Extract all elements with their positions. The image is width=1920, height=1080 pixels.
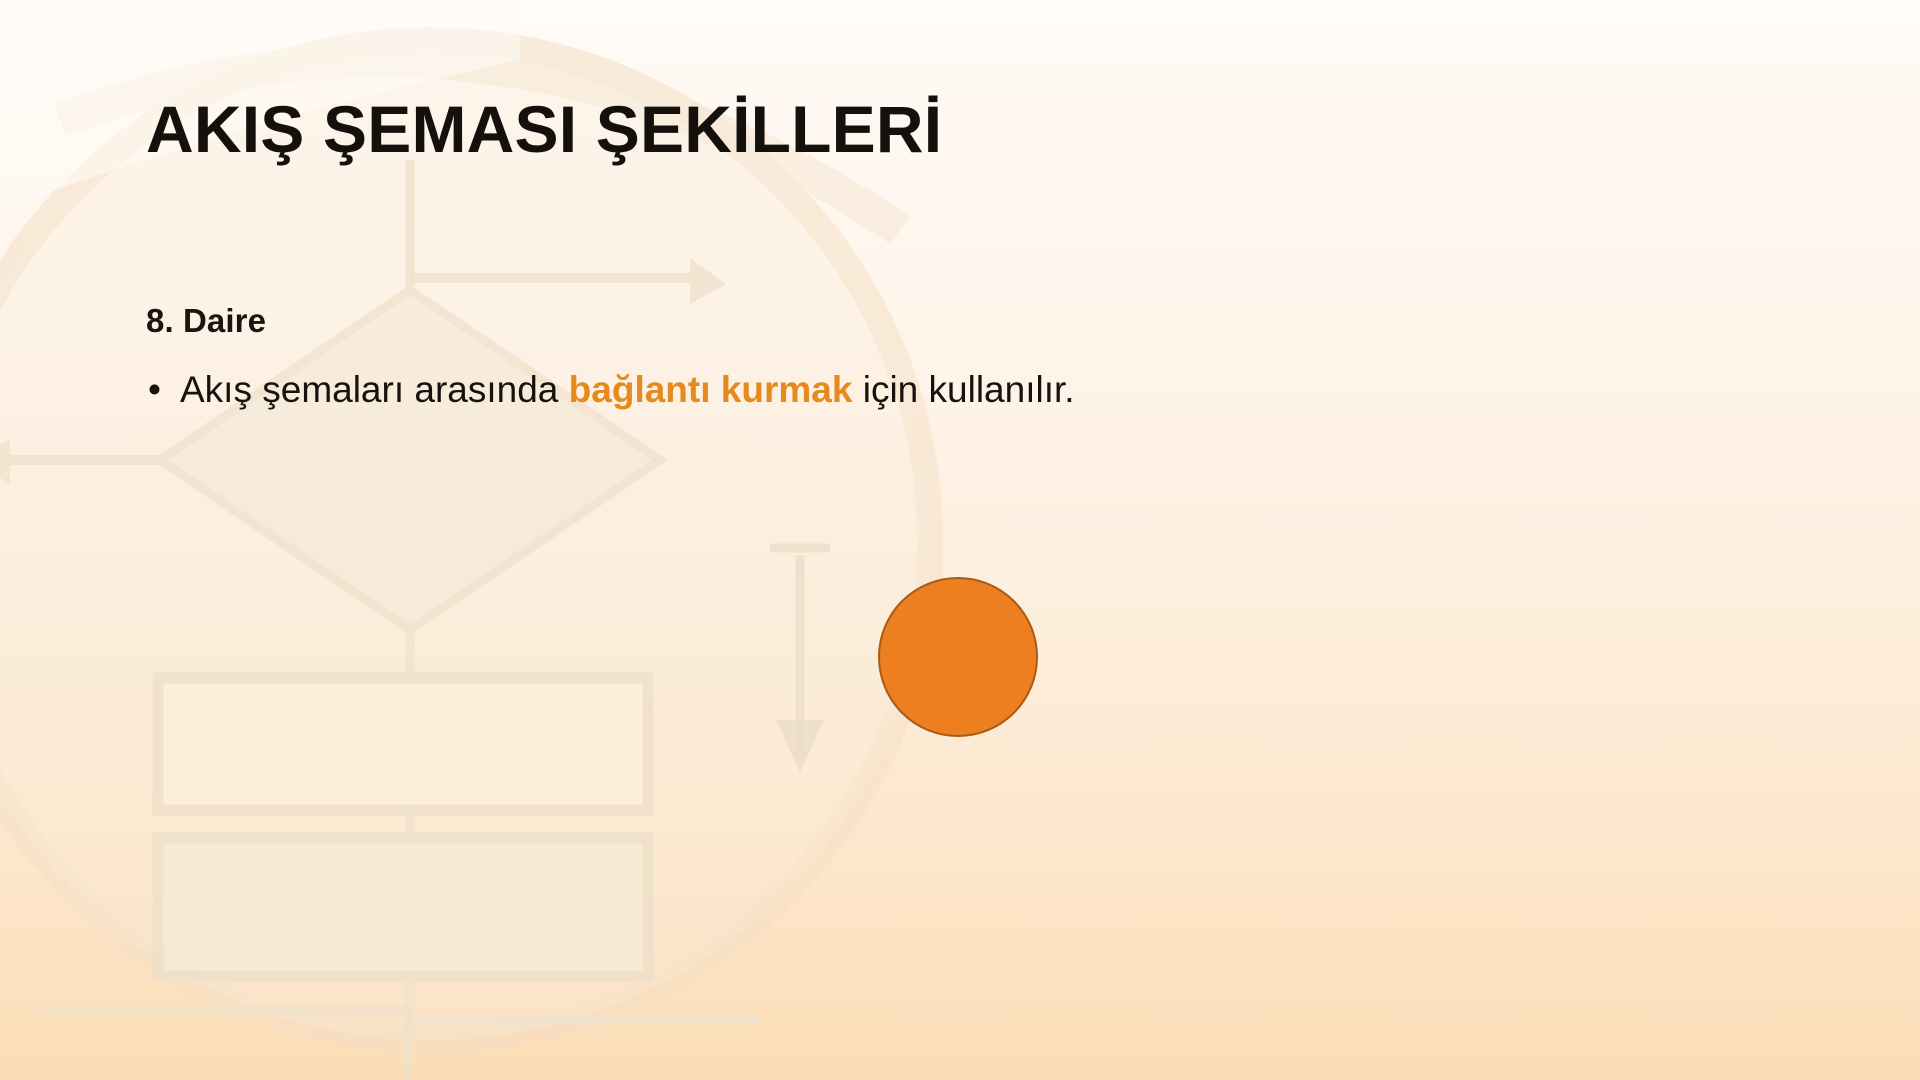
bullet-text-after: için kullanılır. — [852, 369, 1074, 410]
bullet-point-icon: • — [148, 367, 161, 412]
bullet-text-before: Akış şemaları arasında — [180, 369, 569, 410]
bullet-text-highlight: bağlantı kurmak — [569, 369, 853, 410]
bullet-list: •Akış şemaları arasında bağlantı kurmak … — [146, 367, 1706, 412]
slide-title: AKIŞ ŞEMASI ŞEKİLLERİ — [146, 95, 1746, 165]
watermark-arrow-left — [0, 438, 162, 484]
list-item: •Akış şemaları arasında bağlantı kurmak … — [146, 367, 1706, 412]
watermark-rectangle-2 — [158, 838, 648, 976]
watermark-arrow-down-center — [770, 548, 830, 772]
section-subheading: 8. Daire — [146, 300, 1706, 341]
slide-canvas: AKIŞ ŞEMASI ŞEKİLLERİ 8. Daire •Akış şem… — [0, 0, 1920, 1080]
watermark-arrow-right — [410, 258, 726, 304]
watermark-arc — [0, 40, 930, 1040]
watermark-connector-down-right — [410, 976, 760, 1020]
watermark-rectangle-1 — [158, 678, 648, 810]
circle-shape-daire — [878, 577, 1038, 737]
watermark-bottom-rail — [40, 1010, 408, 1080]
slide-body: 8. Daire •Akış şemaları arasında bağlant… — [146, 300, 1706, 412]
